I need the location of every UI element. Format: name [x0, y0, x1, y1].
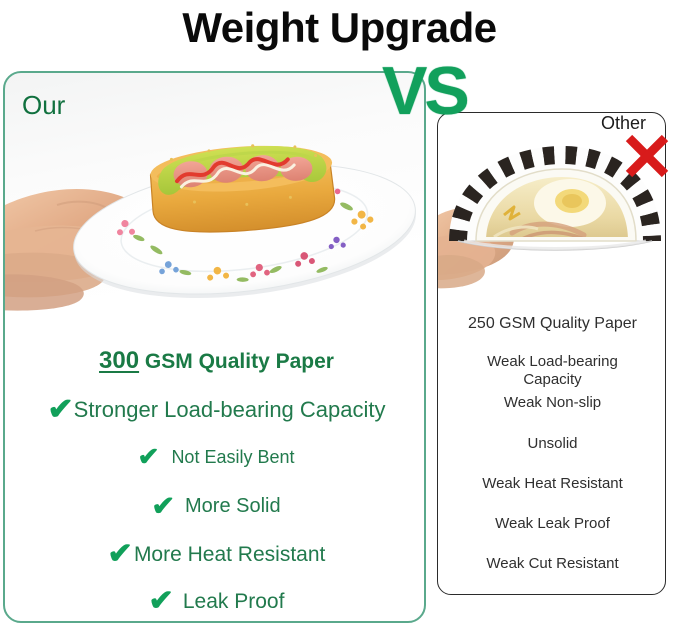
other-feature-label: Weak Load-bearingCapacity [438, 353, 666, 389]
our-feature-row: ✔ Leak Proof [5, 588, 426, 615]
check-icon: ✔ [138, 445, 160, 469]
other-feature-label: Weak Non-slip [438, 394, 666, 412]
other-panel-label: Other [601, 112, 646, 134]
check-icon: ✔ [107, 541, 133, 568]
our-gsm-rest: GSM Quality Paper [139, 350, 334, 373]
our-panel-label: Our [22, 90, 65, 120]
other-product-panel: 250 GSM Quality Paper Weak Load-bearingC… [437, 112, 666, 595]
cross-icon [624, 133, 670, 179]
check-icon: ✔ [47, 396, 73, 424]
our-product-panel: 300 GSM Quality Paper ✔ Stronger Load-be… [3, 71, 426, 623]
other-feature-label: Weak Cut Resistant [438, 555, 666, 573]
our-feature-label: Stronger Load-bearing Capacity [74, 396, 386, 424]
our-feature-label: Not Easily Bent [171, 445, 294, 469]
our-feature-label: Leak Proof [183, 588, 285, 615]
our-feature-label: More Heat Resistant [134, 541, 325, 568]
our-gsm-headline: 300 GSM Quality Paper [5, 348, 426, 375]
check-icon: ✔ [152, 493, 176, 519]
other-feature-label: Weak Heat Resistant [438, 475, 666, 493]
other-feature-label: Unsolid [438, 435, 666, 453]
our-product-image [5, 113, 426, 328]
versus-label: VS [382, 57, 467, 125]
hand-holding-floral-plate-illustration [5, 113, 426, 328]
our-feature-row: ✔ More Solid [5, 493, 426, 519]
other-gsm-headline: 250 GSM Quality Paper [438, 313, 666, 335]
other-feature-label: Weak Leak Proof [438, 515, 666, 533]
our-feature-row: ✔ Not Easily Bent [5, 445, 426, 469]
our-feature-row: ✔ Stronger Load-bearing Capacity [5, 396, 426, 424]
our-feature-label: More Solid [185, 493, 281, 519]
check-icon: ✔ [148, 588, 174, 615]
page-title: Weight Upgrade [0, 2, 679, 54]
our-gsm-number: 300 [99, 347, 139, 374]
our-feature-row: ✔ More Heat Resistant [5, 541, 426, 568]
